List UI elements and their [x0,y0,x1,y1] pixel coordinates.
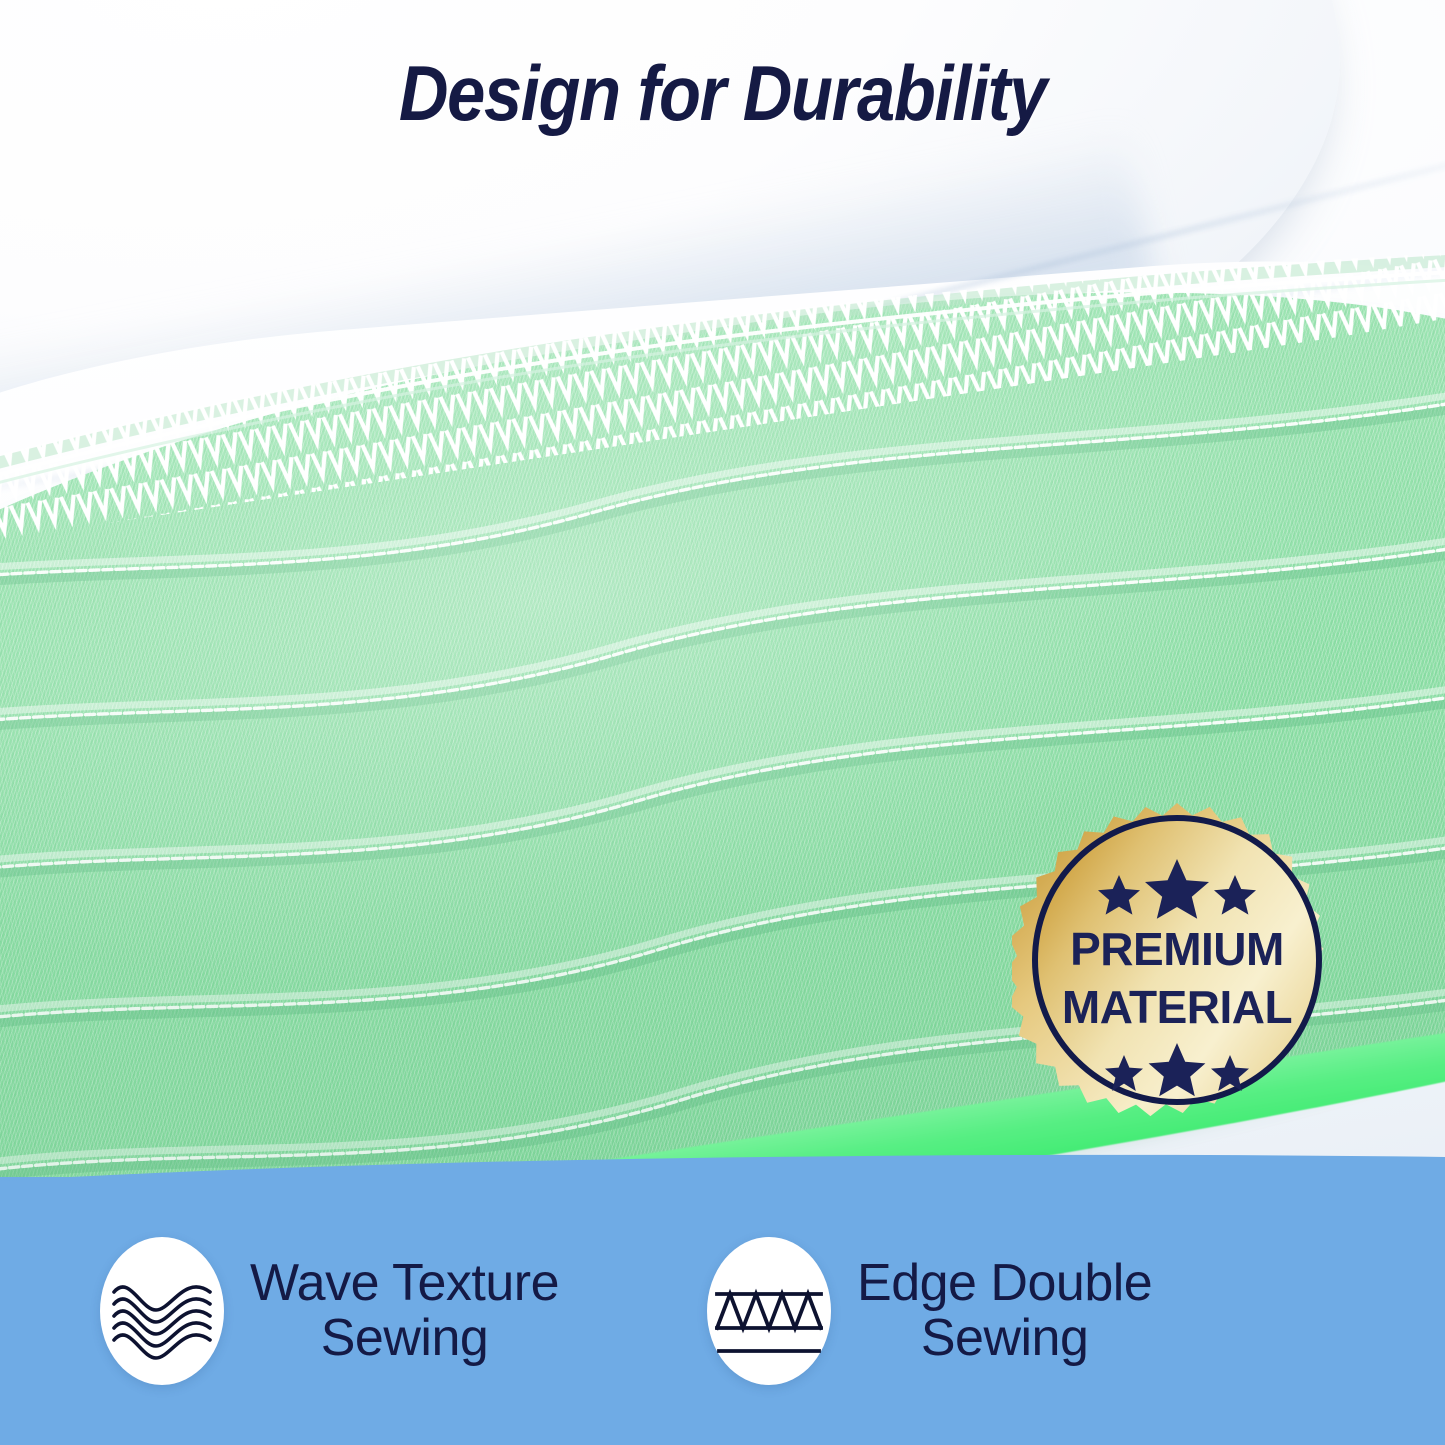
page-title: Design for Durability [87,48,1359,139]
badge-line2: MATERIAL [1062,981,1292,1033]
wave-lines-icon [108,1252,216,1370]
feature-wave-texture-sewing[interactable]: Wave Texture Sewing [100,1237,559,1385]
feature-list: Wave Texture Sewing Edge Double Sewing [0,1177,1445,1445]
premium-material-badge: PREMIUM MATERIAL [1012,797,1342,1127]
feature-bar: Wave Texture Sewing Edge Double Sewing [0,1177,1445,1445]
feature-icon-badge [100,1237,224,1385]
zigzag-stitch-icon [715,1252,823,1370]
product-feature-poster: PREMIUM MATERIAL Design for Durability [0,0,1445,1445]
bed-scene-photo: PREMIUM MATERIAL Design for Durability [0,0,1445,1190]
feature-label: Wave Texture Sewing [250,1256,559,1366]
badge-line1: PREMIUM [1070,923,1284,975]
feature-label: Edge Double Sewing [857,1256,1152,1366]
feature-edge-double-sewing[interactable]: Edge Double Sewing [707,1237,1152,1385]
feature-icon-badge [707,1237,831,1385]
